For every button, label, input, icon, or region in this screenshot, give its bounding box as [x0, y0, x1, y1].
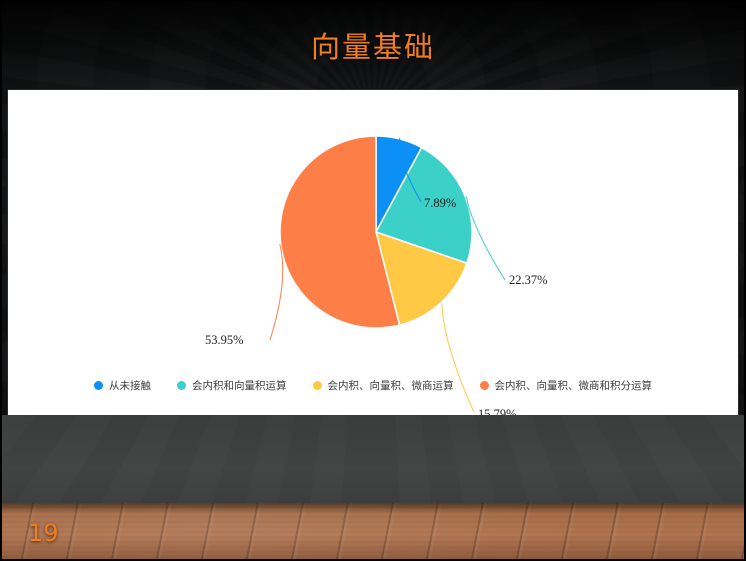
pie-slice-group — [280, 136, 472, 328]
legend-color-swatch-icon — [177, 381, 186, 390]
legend-item-label: 从未接触 — [109, 378, 151, 393]
pie-value-label-0: 7.89% — [424, 196, 456, 211]
legend-color-swatch-icon — [313, 381, 322, 390]
chart-panel: 7.89% 22.37% 15.79% 53.95% 从未接触会内积和向量积运算… — [8, 90, 738, 415]
slide-title: 向量基础 — [0, 24, 746, 66]
wall-rays-pattern — [0, 415, 746, 503]
wooden-floor — [0, 503, 746, 561]
pie-value-label-3: 53.95% — [205, 333, 244, 348]
room-wall — [0, 415, 746, 503]
legend-item-label: 会内积、向量积、微商和积分运算 — [495, 378, 653, 393]
legend-color-swatch-icon — [94, 381, 103, 390]
pie-value-label-1: 22.37% — [509, 273, 548, 288]
floor-edge-shadow — [0, 503, 746, 513]
pie-chart: 7.89% 22.37% 15.79% 53.95% — [8, 90, 738, 415]
legend-item[interactable]: 会内积和向量积运算 — [177, 378, 287, 393]
legend-item[interactable]: 会内积、向量积、微商运算 — [313, 378, 454, 393]
presentation-slide: 向量基础 7.89% 22.37% 15.79% 53.95% 从未接触会内积和… — [0, 0, 746, 561]
pie-leader-line — [442, 303, 474, 412]
legend-item[interactable]: 从未接触 — [94, 378, 151, 393]
legend-item-label: 会内积、向量积、微商运算 — [328, 378, 454, 393]
legend-item[interactable]: 会内积、向量积、微商和积分运算 — [480, 378, 653, 393]
pie-leader-line — [270, 244, 283, 340]
legend-color-swatch-icon — [480, 381, 489, 390]
slide-page-number: 19 — [28, 519, 59, 547]
legend-item-label: 会内积和向量积运算 — [192, 378, 287, 393]
pie-chart-svg — [8, 90, 738, 415]
chart-legend: 从未接触会内积和向量积运算会内积、向量积、微商运算会内积、向量积、微商和积分运算 — [8, 378, 738, 393]
